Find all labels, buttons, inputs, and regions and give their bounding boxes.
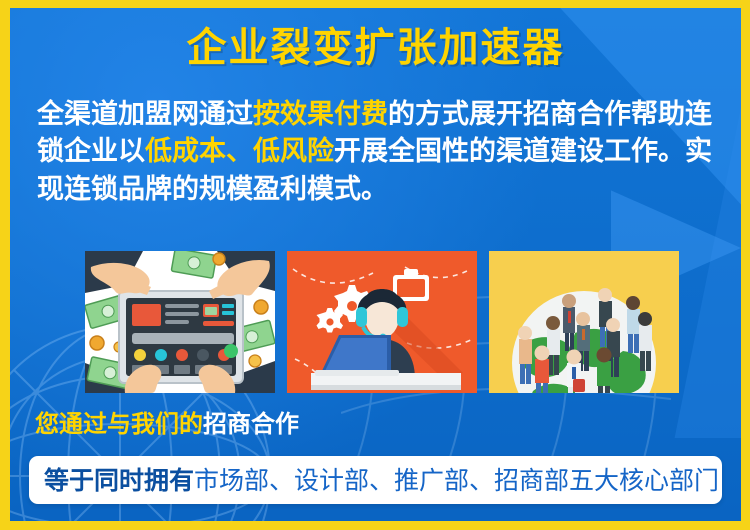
pay-for-performance-photo [85, 251, 275, 393]
page-title: 企业裂变扩张加速器 [10, 28, 741, 68]
highlight-bar-rest: 市场部、设计部、推广部、招商部五大核心部门 [194, 466, 719, 495]
description-paragraph: 全渠道加盟网通过按效果付费的方式展开招商合作帮助连锁企业以低成本、低风险开展全国… [37, 96, 719, 208]
footer-lead-white: 招商合作 [203, 410, 299, 438]
customer-service-photo [287, 251, 477, 393]
footer-lead-yellow: 您通过与我们的 [35, 410, 203, 438]
highlight-bar-text: 等于同时拥有市场部、设计部、推广部、招商部五大核心部门 [29, 468, 719, 493]
paragraph-highlight-1: 按效果付费 [253, 99, 388, 130]
banner-stage: 企业裂变扩张加速器 全渠道加盟网通过按效果付费的方式展开招商合作帮助连锁企业以低… [10, 8, 741, 521]
global-team-photo [489, 251, 679, 393]
highlight-bar-bold: 等于同时拥有 [44, 466, 194, 495]
highlight-bar: 等于同时拥有市场部、设计部、推广部、招商部五大核心部门 [29, 456, 722, 504]
paragraph-highlight-2: 低成本、低风险 [145, 136, 334, 167]
promo-banner: 企业裂变扩张加速器 全渠道加盟网通过按效果付费的方式展开招商合作帮助连锁企业以低… [0, 0, 750, 530]
photo-gallery [85, 251, 677, 393]
footer-lead-line: 您通过与我们的招商合作 [35, 412, 299, 436]
paragraph-segment-1: 全渠道加盟网通过 [37, 99, 253, 130]
